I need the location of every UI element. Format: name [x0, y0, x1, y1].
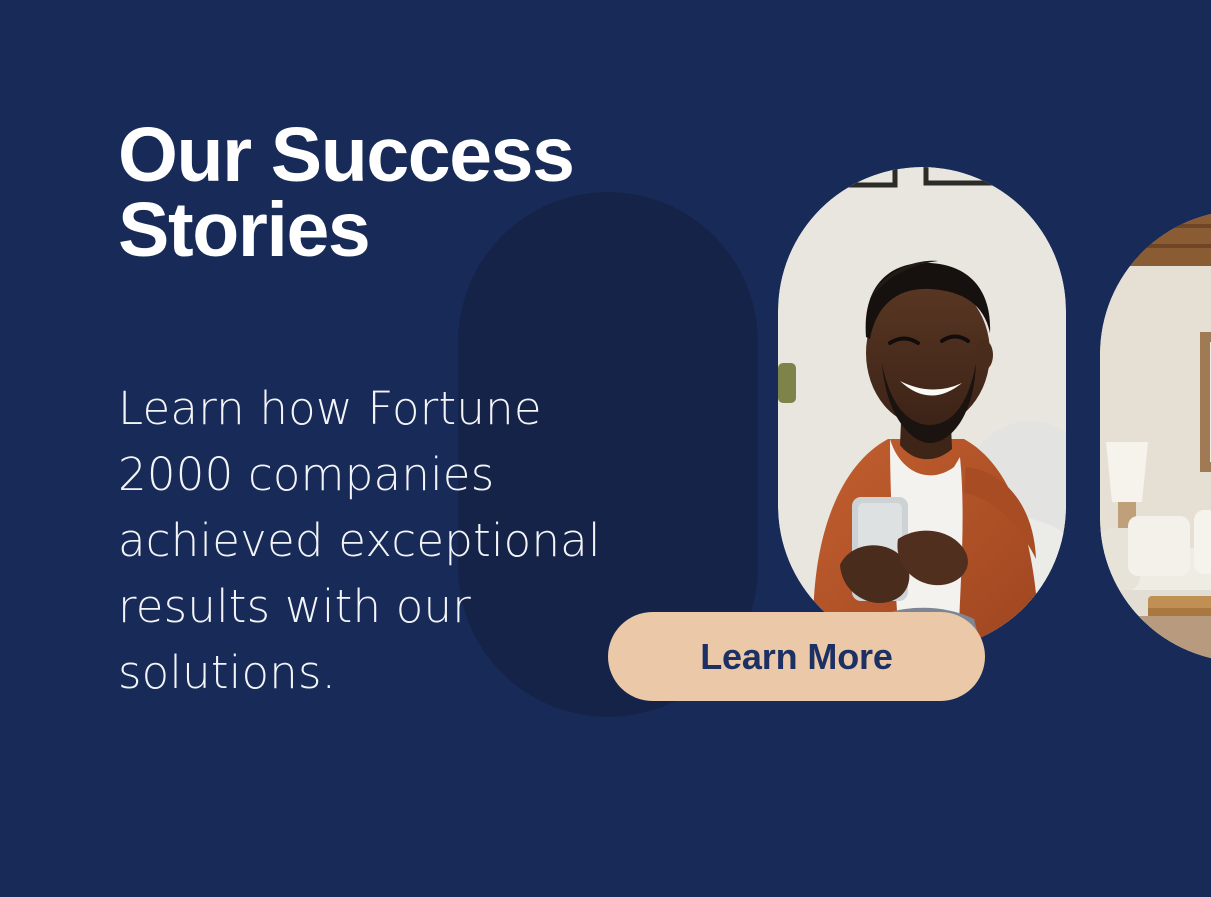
page-title: Our Success Stories: [118, 118, 738, 267]
success-stories-banner: Our Success Stories Learn how Fortune 20…: [0, 0, 1211, 897]
living-room-illustration: [1100, 210, 1211, 662]
photo-card-man-with-phone: [778, 167, 1066, 650]
learn-more-button-label: Learn More: [700, 636, 893, 678]
learn-more-button[interactable]: Learn More: [608, 612, 985, 701]
photo-card-living-room: [1100, 210, 1211, 662]
copy-block: Our Success Stories Learn how Fortune 20…: [118, 118, 738, 267]
man-with-phone-illustration: [778, 167, 1066, 650]
